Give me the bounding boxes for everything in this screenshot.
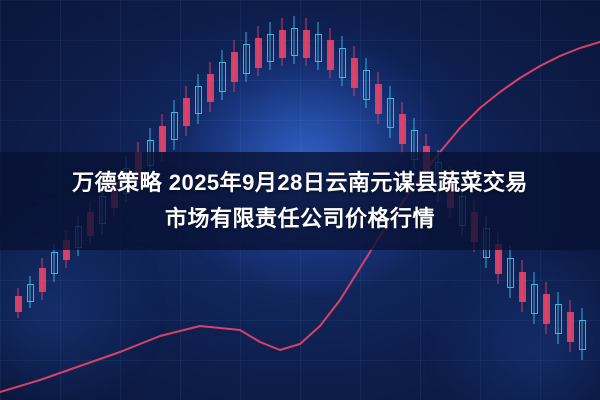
candlestick-body — [15, 296, 22, 312]
candlestick — [531, 272, 538, 324]
candlestick-body — [243, 44, 250, 74]
candlestick — [387, 86, 394, 138]
candlestick-body — [303, 30, 310, 58]
candlestick-body — [507, 258, 514, 288]
candlestick-body — [363, 70, 370, 100]
candlestick — [231, 40, 238, 92]
candlestick-body — [219, 62, 226, 92]
candlestick — [171, 100, 178, 150]
candlestick — [375, 72, 382, 124]
candlestick — [567, 300, 574, 352]
candlestick — [195, 74, 202, 124]
candlestick-body — [195, 86, 202, 114]
candlestick-body — [255, 38, 262, 68]
candlestick-body — [279, 30, 286, 58]
candlestick — [579, 308, 586, 360]
candlestick-body — [531, 284, 538, 314]
title-line-2: 市场有限责任公司价格行情 — [165, 201, 435, 237]
candlestick-body — [51, 252, 58, 274]
candlestick — [27, 276, 34, 308]
candlestick — [207, 62, 214, 112]
candlestick-body — [291, 28, 298, 56]
candlestick — [267, 22, 274, 70]
candlestick-body — [27, 284, 34, 302]
candlestick-body — [339, 48, 346, 78]
candlestick-body — [183, 98, 190, 126]
candlestick-body — [267, 34, 274, 62]
candlestick — [183, 86, 190, 136]
candlestick — [39, 258, 46, 300]
candlestick — [279, 18, 286, 66]
candlestick — [339, 36, 346, 86]
title-line-1: 万德策略 2025年9月28日云南元谋县蔬菜交易 — [72, 165, 528, 201]
candlestick — [363, 58, 370, 108]
candlestick-body — [351, 58, 358, 88]
candlestick — [243, 32, 250, 82]
candlestick — [507, 246, 514, 298]
candlestick-body — [579, 320, 586, 350]
candlestick — [519, 260, 526, 312]
candlestick — [543, 282, 550, 334]
title-band: 万德策略 2025年9月28日云南元谋县蔬菜交易 市场有限责任公司价格行情 — [0, 152, 600, 250]
candlestick-body — [327, 40, 334, 70]
candlestick — [15, 288, 22, 318]
candlestick — [327, 28, 334, 78]
candlestick — [291, 16, 298, 64]
candlestick — [219, 50, 226, 100]
candlestick — [255, 26, 262, 76]
promo-banner-image: 万德策略 2025年9月28日云南元谋县蔬菜交易 市场有限责任公司价格行情 — [0, 0, 600, 400]
candlestick — [315, 22, 322, 70]
candlestick-body — [231, 52, 238, 82]
candlestick-body — [375, 84, 382, 114]
candlestick-body — [171, 112, 178, 140]
candlestick — [399, 102, 406, 154]
candlestick-body — [39, 268, 46, 292]
candlestick-body — [387, 98, 394, 128]
candlestick-body — [543, 294, 550, 324]
candlestick-body — [399, 114, 406, 144]
candlestick — [351, 46, 358, 96]
candlestick — [303, 18, 310, 66]
candlestick-body — [567, 312, 574, 342]
candlestick-body — [207, 74, 214, 102]
candlestick-body — [315, 34, 322, 62]
candlestick — [555, 292, 562, 344]
candlestick-body — [555, 304, 562, 334]
candlestick-body — [519, 272, 526, 302]
candlestick-body — [159, 126, 166, 152]
